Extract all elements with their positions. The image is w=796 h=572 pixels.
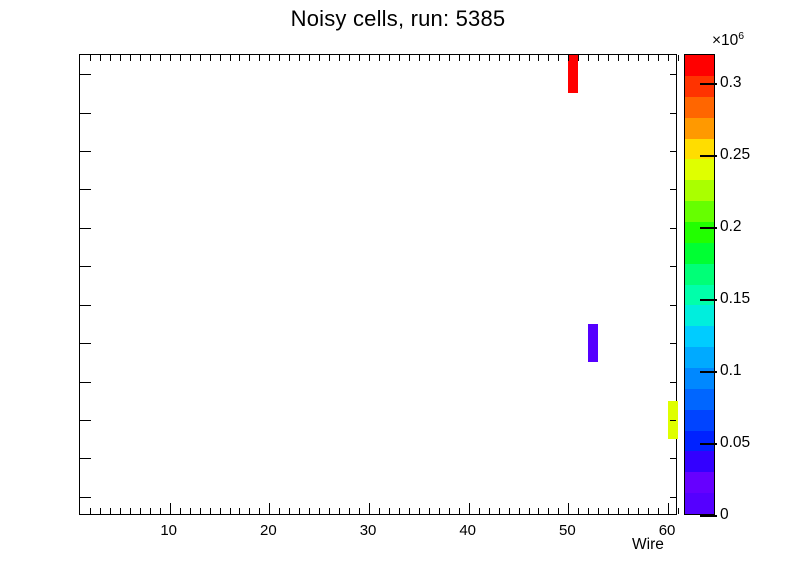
colorbar-band xyxy=(685,55,714,76)
colorbar-band xyxy=(685,139,714,160)
x-axis-title: Wire xyxy=(632,536,664,554)
colorbar xyxy=(684,54,715,515)
colorbar-band xyxy=(685,243,714,264)
x-axis-tick-label-30: 30 xyxy=(360,522,377,539)
colorbar-band xyxy=(685,159,714,180)
colorbar-band xyxy=(685,451,714,472)
colorbar-band xyxy=(685,326,714,347)
colorbar-band xyxy=(685,222,714,243)
colorbar-band xyxy=(685,368,714,389)
colorbar-band xyxy=(685,305,714,326)
colorbar-band xyxy=(685,201,714,222)
colorbar-band xyxy=(685,431,714,452)
root-canvas: Noisy cells, run: 5385 SL1L1SL1L2SL1L3SL… xyxy=(0,0,796,572)
colorbar-band xyxy=(685,389,714,410)
x-axis-tick-label-20: 20 xyxy=(260,522,277,539)
colorbar-band xyxy=(685,347,714,368)
colorbar-band xyxy=(685,493,714,514)
colorbar-band xyxy=(685,97,714,118)
x-axis-labels: 102030405060 xyxy=(0,0,796,572)
x-axis-tick-label-40: 40 xyxy=(459,522,476,539)
x-axis-tick-label-50: 50 xyxy=(559,522,576,539)
colorbar-band xyxy=(685,264,714,285)
colorbar-band xyxy=(685,410,714,431)
colorbar-exponent-power: 6 xyxy=(738,30,744,42)
colorbar-exponent-prefix: ×10 xyxy=(712,32,738,49)
colorbar-band xyxy=(685,118,714,139)
colorbar-band xyxy=(685,472,714,493)
colorbar-exponent: ×106 xyxy=(712,30,744,50)
colorbar-band xyxy=(685,285,714,306)
colorbar-band xyxy=(685,76,714,97)
colorbar-band xyxy=(685,180,714,201)
x-axis-tick-label-10: 10 xyxy=(160,522,177,539)
